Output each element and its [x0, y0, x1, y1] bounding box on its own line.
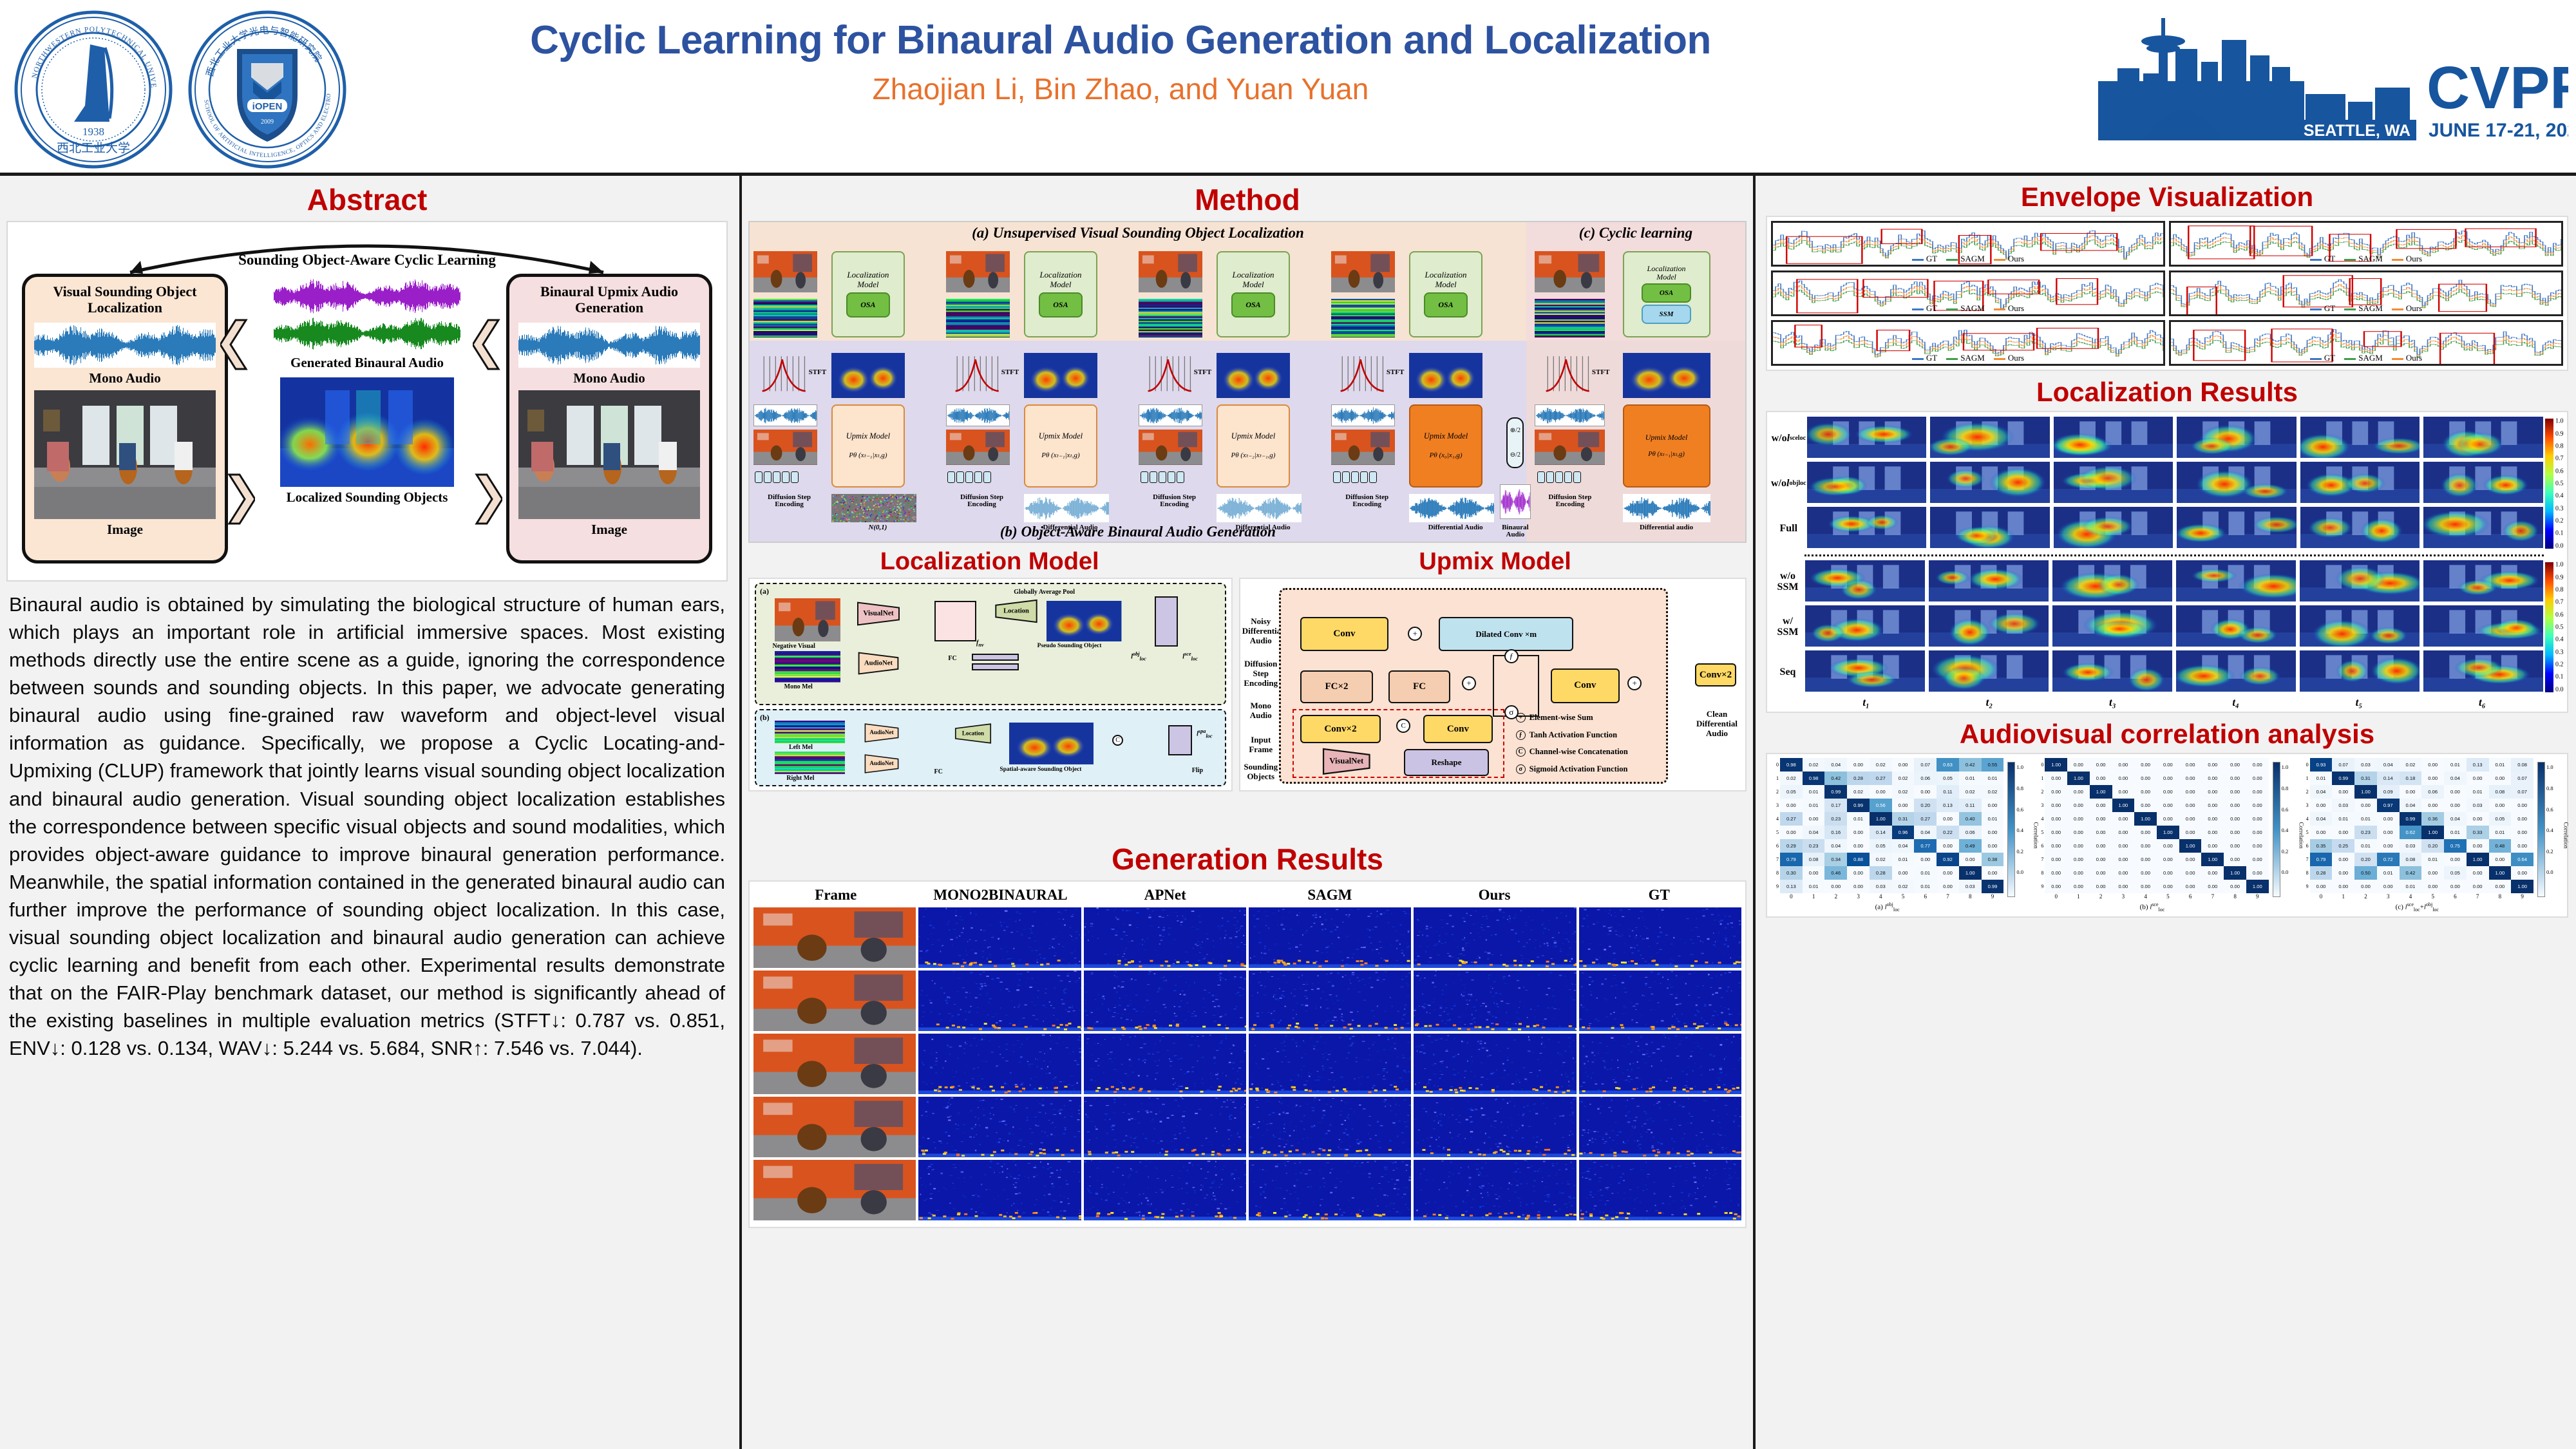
- heatmap-xlabel-2: 2: [2354, 893, 2377, 900]
- stft-plot-1: [952, 353, 1002, 394]
- heatmap-cell-9-8: 0.00: [2224, 880, 2246, 893]
- cbar-tick-0.0: 0.0: [2555, 542, 2564, 549]
- heatmap-cell-5-2: 0.00: [2090, 826, 2112, 839]
- heatmap-cell-4-9: 0.00: [2246, 812, 2269, 826]
- heatmap-cell-8-3: 0.00: [1847, 866, 1870, 880]
- heatmap-xlabel-3: 3: [2112, 893, 2135, 900]
- conv-block-1: Conv: [1300, 617, 1389, 652]
- localization-heatmap-r1c3: [2176, 461, 2297, 504]
- localization-row-2: [1806, 506, 2544, 549]
- conv-block-3: Conv: [1423, 715, 1493, 744]
- heatmap-cell-0-3: 0.00: [1847, 758, 1870, 772]
- heatmap-cell-8-8: 1.00: [2224, 866, 2246, 880]
- heatmap-xlabel-9: 9: [2511, 893, 2533, 900]
- iopen-logo: iOPEN 2009 西北工业大学光电与智能研究院 SCHOOL OF ARTI…: [187, 9, 348, 170]
- localization-row-1: [1806, 461, 2544, 504]
- heatmap-cell-1-6: 0.00: [2179, 772, 2202, 785]
- heatmap-cell-2-1: 0.00: [2332, 785, 2354, 799]
- output-conv2-block: Conv×2: [1695, 663, 1736, 687]
- stft-label-2: STFT: [1194, 369, 1212, 377]
- heatmap-cell-4-1: 0.00: [2067, 812, 2090, 826]
- legend-item-SAGM: SAGM: [2344, 353, 2383, 363]
- heatmap-cell-9-9: 1.00: [2246, 880, 2269, 893]
- svg-text:iOPEN: iOPEN: [252, 101, 283, 112]
- heatmap-xlabel-6: 6: [1914, 893, 1937, 900]
- heatmap-cell-6-7: 0.00: [2467, 839, 2489, 853]
- svg-text:JUNE 17-21, 2024: JUNE 17-21, 2024: [2429, 120, 2568, 141]
- heatmap-cell-0-3: 0.04: [2377, 758, 2400, 772]
- upmix-legend-0: +Element-wise Sum: [1516, 713, 1593, 723]
- legend-item-Ours: Ours: [1994, 303, 2024, 314]
- heatmap-cell-8-6: 0.01: [1914, 866, 1937, 880]
- heatmap-cell-0-1: 0.02: [1803, 758, 1825, 772]
- heatmap-cell-8-9: 0.00: [2246, 866, 2269, 880]
- table-row: [753, 1160, 1741, 1220]
- caption-c: (c) Cyclic learning: [1526, 225, 1745, 241]
- cbar-tick-0.3: 0.3: [2555, 505, 2564, 512]
- heatmap-xlabel-1: 1: [2332, 893, 2354, 900]
- cbar-tick-0.6: 0.6: [2555, 611, 2564, 618]
- heatmap-cell-2-8: 0.00: [2224, 785, 2246, 799]
- heatmap-cell-4-8: 0.00: [2224, 812, 2246, 826]
- cyclic-frame: [1535, 430, 1605, 465]
- heatmap-cell-3-3: 0.99: [1847, 799, 1870, 812]
- heatmap-cell-2-6: 0.00: [1914, 785, 1937, 799]
- heatmap-cell-6-0: 0.00: [2045, 839, 2067, 853]
- legend-item-GT: GT: [2310, 353, 2335, 363]
- legend-item-GT: GT: [1912, 353, 1937, 363]
- heatmap-cell-4-1: 0.01: [2332, 812, 2354, 826]
- spectrogram-MONO2BINAURAL-0: [918, 907, 1081, 968]
- heatmap-cell-5-5: 1.00: [2157, 826, 2179, 839]
- spectrogram-APNet-4: [1084, 1160, 1246, 1220]
- stage-output-caption-1: Differential Audio: [1012, 524, 1129, 532]
- cyclic-upmix-model: Upmix Model Pθ (xₜ₋₁|xₜ,g): [1623, 404, 1710, 488]
- heatmap-cell-0-7: 0.63: [1937, 758, 1959, 772]
- fc-bars-lower: [972, 663, 1019, 670]
- heatmap-cell-2-6: 0.00: [2444, 785, 2467, 799]
- heatmap-cell-7-2: 0.00: [2090, 853, 2112, 866]
- stft-plot-2: [1144, 353, 1195, 394]
- heatmap-cell-9-4: 0.01: [2400, 880, 2422, 893]
- heatmap-cell-7-9: 0.00: [2246, 853, 2269, 866]
- gen-col-header-1: MONO2BINAURAL: [918, 884, 1083, 907]
- heatmap-cell-3-6: 0.00: [2179, 799, 2202, 812]
- heatmap-cell-6-5: 0.20: [2421, 839, 2444, 853]
- heatmap-ylabel-7: 7: [1771, 853, 1780, 866]
- time-label-2: t₂: [1927, 695, 2050, 709]
- heatmap-cell-8-8: 1.00: [1959, 866, 1982, 880]
- left-scene-image: [34, 390, 216, 519]
- fc-bars-b: [1168, 725, 1191, 755]
- fc-bars-upper: [972, 654, 1019, 661]
- right-wave-caption: Mono Audio: [509, 370, 709, 386]
- heatmap-cell-6-6: 1.00: [2179, 839, 2202, 853]
- heatmap-cell-8-2: 0.50: [2354, 866, 2377, 880]
- stft-label-3: STFT: [1387, 369, 1405, 377]
- heatmap-cell-9-1: 0.00: [2332, 880, 2354, 893]
- sum-op-2: +: [1462, 676, 1476, 690]
- corr-cbar-tick-1.0: 1.0: [2016, 764, 2023, 770]
- localization-heatmap-r2c3: [2175, 650, 2297, 692]
- heatmap-cell-0-0: 1.00: [2045, 758, 2067, 772]
- visual-localization-box: Visual Sounding Object Localization Mono…: [22, 274, 228, 563]
- heatmap-cell-8-6: 0.00: [2179, 866, 2202, 880]
- chevron-left-lower: [473, 319, 502, 370]
- cyclic-localization-model: LocalizationModel OSA SSM: [1623, 251, 1710, 337]
- corr-cbar-tick-1.0: 1.0: [2546, 764, 2553, 770]
- heatmap-cell-3-7: 0.00: [2201, 799, 2224, 812]
- heatmap-cell-0-5: 0.00: [2157, 758, 2179, 772]
- heatmap-xlabel-9: 9: [2246, 893, 2269, 900]
- localization-model-block-2: Localization Model OSA: [1217, 251, 1291, 337]
- heatmap-xlabel-8: 8: [1959, 893, 1982, 900]
- panel-a-label: (a): [760, 587, 769, 596]
- heatmap-cell-3-4: 0.00: [2134, 799, 2157, 812]
- time-axis-labels: t₁t₂t₃t₄t₅t₆: [1804, 695, 2544, 709]
- spectrogram-GT-4: [1579, 1160, 1741, 1220]
- cbar-tick-0.3: 0.3: [2555, 649, 2564, 656]
- svg-text:Location: Location: [962, 730, 984, 736]
- heatmap-xlabel-5: 5: [2421, 893, 2444, 900]
- spectrogram-GT-3: [1579, 1097, 1741, 1157]
- heatmap-grid-0: 0.980.020.040.000.020.000.070.630.420.55…: [1780, 758, 2003, 893]
- spectrogram-0: [753, 299, 817, 337]
- heatmap-cell-4-6: 0.00: [2179, 812, 2202, 826]
- dse-label-1: Diffusion StepEncoding: [939, 494, 1025, 509]
- mono-audio-waveform-left: [34, 323, 216, 368]
- heatmap-cell-8-6: 0.05: [2444, 866, 2467, 880]
- heatmap-cell-8-7: 0.00: [2467, 866, 2489, 880]
- section-title-generation-results: Generation Results: [742, 835, 1753, 880]
- chevron-left-upper: [220, 319, 250, 370]
- heatmap-cell-2-1: 0.01: [1803, 785, 1825, 799]
- section-title-upmix-model: Upmix Model: [1237, 543, 1753, 578]
- upmix-model-block-2: Upmix Model Pθ (xₜ₋₂|xₜ₋₁,g): [1217, 404, 1291, 488]
- legend-item-SAGM: SAGM: [1946, 353, 1985, 363]
- time-label-3: t₃: [2051, 695, 2174, 709]
- heatmap-cell-5-7: 0.22: [1937, 826, 1959, 839]
- upmix-input-3: InputFrame: [1242, 735, 1280, 755]
- svg-text:1938: 1938: [82, 126, 104, 138]
- localization-model-block-1: Localization Model OSA: [1024, 251, 1098, 337]
- heatmap-cell-5-1: 0.00: [2332, 826, 2354, 839]
- heatmap-cell-9-2: 0.00: [1824, 880, 1847, 893]
- stft-label-0: STFT: [809, 369, 827, 377]
- heatmap-cell-8-2: 0.46: [1824, 866, 1847, 880]
- heatmap-cell-2-0: 0.04: [2310, 785, 2333, 799]
- upmix-model-block-1: Upmix Model Pθ (xₜ₋₁|xₜ,g): [1024, 404, 1098, 488]
- localization-heatmap-r1c3: [2175, 605, 2297, 647]
- heatmap-cell-6-2: 0.04: [1824, 839, 1847, 853]
- heatmap-cell-2-2: 0.99: [1824, 785, 1847, 799]
- spectrogram-1: [946, 299, 1010, 337]
- heatmap-cell-2-2: 1.00: [2090, 785, 2112, 799]
- heatmap-cell-9-5: 0.02: [1892, 880, 1915, 893]
- heatmap-cell-6-8: 0.49: [1959, 839, 1982, 853]
- concat-op-upmix: C: [1396, 719, 1410, 733]
- corr-colorbar-gradient-1: [2273, 762, 2280, 897]
- localization-heatmap-r2c4: [2300, 506, 2421, 549]
- legend-item-SAGM: SAGM: [2344, 254, 2383, 264]
- heatmap-cell-5-0: 0.00: [2310, 826, 2333, 839]
- sum-op-1: +: [1408, 627, 1422, 641]
- heatmap-cell-9-0: 0.00: [2310, 880, 2333, 893]
- localization-heatmap-r1c4: [2299, 605, 2420, 647]
- heatmap-xlabel-8: 8: [2224, 893, 2246, 900]
- frame-thumbnail-2: [753, 1034, 916, 1094]
- diffusion-step-encoding-1: [947, 471, 991, 483]
- cbar-tick-0.0: 0.0: [2555, 686, 2564, 693]
- heatmap-cell-3-5: 0.00: [1892, 799, 1915, 812]
- heatmap-cell-8-4: 0.42: [2400, 866, 2422, 880]
- section-title-audiovisual-correlation: Audiovisual correlation analysis: [1758, 713, 2576, 753]
- heatmap-cell-1-2: 0.42: [1824, 772, 1847, 785]
- heatmap-xlabel-8: 8: [2489, 893, 2512, 900]
- heatmap-cell-5-6: 0.04: [1914, 826, 1937, 839]
- localization-heatmap-r2c5: [2423, 506, 2544, 549]
- heatmap-cell-6-0: 0.35: [2310, 839, 2333, 853]
- heatmap-cell-7-0: 0.79: [1780, 853, 1803, 866]
- spectrogram-APNet-2: [1084, 1034, 1246, 1094]
- heatmap-cell-2-9: 0.00: [2246, 785, 2269, 799]
- heatmap-cell-7-6: 0.00: [2179, 853, 2202, 866]
- heatmap-cell-2-9: 0.02: [1982, 785, 2004, 799]
- heatmap-xlabel-7: 7: [2467, 893, 2489, 900]
- localization-heatmap-r0c5: [2423, 560, 2544, 602]
- localization-model-figure: (a) Negative Visual Mono Mel VisualNet A…: [748, 578, 1233, 835]
- heatmap-cell-5-4: 0.62: [2400, 826, 2422, 839]
- heatmap-cell-6-2: 0.00: [2090, 839, 2112, 853]
- heatmap-cell-9-7: 0.00: [2201, 880, 2224, 893]
- input-frame-0: [753, 251, 817, 292]
- fc2-block: FC×2: [1300, 670, 1374, 703]
- heatmap-ylabel-0: 0: [2301, 758, 2310, 772]
- heatmap-cell-4-3: 0.00: [2112, 812, 2135, 826]
- localization-heatmap-r0c1: [1928, 560, 2049, 602]
- frame-thumbnail-0: [753, 907, 916, 968]
- heatmap-cell-1-2: 0.00: [2090, 772, 2112, 785]
- heatmap-cell-5-6: 0.00: [2179, 826, 2202, 839]
- heatmap-cell-6-6: 0.77: [1914, 839, 1937, 853]
- conv2-block: Conv×2: [1300, 715, 1381, 744]
- localization-branch-a: (a) Negative Visual Mono Mel VisualNet A…: [755, 583, 1226, 705]
- heatmap-ylabel-9: 9: [1771, 880, 1780, 893]
- heatmap-grid-2: 0.930.070.030.040.020.000.010.130.010.08…: [2310, 758, 2533, 893]
- heatmap-cell-4-0: 0.00: [2045, 812, 2067, 826]
- heatmap-ylabel-5: 5: [2036, 826, 2045, 839]
- legend-item-Ours: Ours: [1994, 254, 2024, 264]
- corr-cbar-tick-0.4: 0.4: [2546, 827, 2553, 833]
- heatmap-cell-1-6: 0.04: [2444, 772, 2467, 785]
- left-wave-caption: Mono Audio: [25, 370, 225, 386]
- cbar-tick-0.8: 0.8: [2555, 443, 2564, 450]
- heatmap-xlabel-3: 3: [2377, 893, 2400, 900]
- heatmap-xlabel-1: 1: [1803, 893, 1825, 900]
- colorbar-gradient: [2545, 419, 2553, 549]
- legend-item-GT: GT: [1912, 254, 1937, 264]
- heatmap-cell-1-1: 1.00: [2067, 772, 2090, 785]
- heatmap-cell-6-1: 0.25: [2332, 839, 2354, 853]
- heatmap-ylabel-5: 5: [1771, 826, 1780, 839]
- localization-heatmap-r0c0: [1806, 416, 1927, 459]
- row-label-1: w/SSM: [1771, 605, 1804, 650]
- heatmap-cell-8-1: 0.00: [2067, 866, 2090, 880]
- legend-item-GT: GT: [2310, 303, 2335, 314]
- heatmap-cell-4-7: 0.00: [2201, 812, 2224, 826]
- localization-heatmap-2: [1217, 353, 1291, 397]
- heatmap-cell-3-5: 0.00: [2421, 799, 2444, 812]
- spectrogram-Ours-0: [1414, 907, 1576, 968]
- right-scene-image: [518, 390, 700, 519]
- heatmap-cell-9-8: 0.03: [1959, 880, 1982, 893]
- heatmap-cell-0-9: 0.00: [2246, 758, 2269, 772]
- correlation-heatmap-0: 0123456789 0.980.020.040.000.020.000.070…: [1771, 758, 2003, 913]
- heatmap-cell-3-2: 0.00: [2090, 799, 2112, 812]
- pseudo-sounding-object-label: Pseudo Sounding Object: [1037, 643, 1102, 649]
- gen-col-header-5: GT: [1577, 884, 1741, 907]
- localization-heatmap-r0c1: [1929, 416, 2050, 459]
- heatmap-cell-6-5: 0.00: [2157, 839, 2179, 853]
- heatmap-ylabel-4: 4: [2036, 812, 2045, 826]
- localization-model-block-0: Localization Model OSA: [831, 251, 905, 337]
- gen-col-header-3: SAGM: [1247, 884, 1412, 907]
- heatmap-cell-2-9: 0.07: [2511, 785, 2533, 799]
- heatmap-ylabel-6: 6: [2301, 839, 2310, 853]
- heatmap-cell-0-5: 0.00: [1892, 758, 1915, 772]
- heatmap-cell-9-7: 0.00: [2467, 880, 2489, 893]
- section-title-method: Method: [742, 176, 1753, 221]
- heatmap-cell-3-3: 0.97: [2377, 799, 2400, 812]
- corr-cbar-tick-1.0: 1.0: [2282, 764, 2289, 770]
- heatmap-cell-9-2: 0.00: [2090, 880, 2112, 893]
- corr-cbar-tick-0.8: 0.8: [2016, 785, 2023, 791]
- cbar-tick-0.9: 0.9: [2555, 430, 2564, 437]
- corr-cbar-tick-0.4: 0.4: [2016, 827, 2023, 833]
- heatmap-cell-9-6: 0.01: [1914, 880, 1937, 893]
- heatmap-cell-6-1: 0.23: [1803, 839, 1825, 853]
- corr-cbar-tick-0.2: 0.2: [2282, 848, 2289, 855]
- frame-input-3: [1331, 430, 1395, 465]
- time-label-4: t₄: [2174, 695, 2297, 709]
- spectrogram-APNet-1: [1084, 971, 1246, 1031]
- binaural-audio-output: [1500, 484, 1531, 520]
- heatmap-cell-7-3: 0.00: [2112, 853, 2135, 866]
- colorbar: 1.00.90.80.70.60.50.40.30.20.10.0: [2544, 416, 2563, 551]
- corr-cbar-tick-0.0: 0.0: [2016, 869, 2023, 875]
- heatmap-xlabel-6: 6: [2444, 893, 2467, 900]
- sum-op-3: +: [1627, 676, 1642, 690]
- upmix-input-0: NoisyDifferentialAudio: [1242, 617, 1280, 646]
- spectrogram-Ours-3: [1414, 1097, 1576, 1157]
- heatmap-cell-3-1: 0.01: [1803, 799, 1825, 812]
- legend-item-GT: GT: [1912, 303, 1937, 314]
- heatmap-cell-6-5: 0.04: [1892, 839, 1915, 853]
- heatmap-cell-1-5: 0.00: [2157, 772, 2179, 785]
- binaural-waveform-right-channel: [274, 315, 460, 352]
- spectrogram-MONO2BINAURAL-2: [918, 1034, 1081, 1094]
- chevron-right-lower-a: [225, 473, 255, 525]
- localization-heatmap-r0c0: [1804, 560, 1926, 602]
- heatmap-cell-1-0: 0.00: [2045, 772, 2067, 785]
- heatmap-cell-5-9: 0.00: [2511, 826, 2533, 839]
- heatmap-cell-2-0: 0.05: [1780, 785, 1803, 799]
- heatmap-cell-1-8: 0.00: [2489, 772, 2512, 785]
- right-image-caption: Image: [509, 522, 709, 538]
- section-title-localization-model: Localization Model: [742, 543, 1237, 578]
- gen-col-header-4: Ours: [1412, 884, 1577, 907]
- cyclic-dse-label: Diffusion StepEncoding: [1528, 494, 1611, 509]
- heatmap-cell-9-1: 0.01: [1803, 880, 1825, 893]
- cbar-tick-0.4: 0.4: [2555, 493, 2564, 500]
- mono-waveform-2: [1139, 404, 1202, 427]
- heatmap-cell-3-9: 0.00: [2246, 799, 2269, 812]
- cyclic-output-caption: Differential audio: [1614, 524, 1719, 532]
- cbar-tick-0.5: 0.5: [2555, 480, 2564, 488]
- corr-colorbar-title-2: Correlation: [2562, 822, 2569, 848]
- feature-fnv: fnv: [976, 639, 984, 648]
- svg-text:Location: Location: [1003, 608, 1029, 615]
- heatmap-cell-0-0: 0.98: [1780, 758, 1803, 772]
- binaural-waveform-left-channel: [274, 278, 460, 315]
- heatmap-xaxis-2: 0123456789: [2310, 893, 2533, 900]
- cbar-tick-0.7: 0.7: [2555, 599, 2564, 606]
- cvpr-logo: SEATTLE, WA CVPR JUNE 17-21, 2024: [2079, 12, 2568, 153]
- heatmap-ylabel-4: 4: [1771, 812, 1780, 826]
- heatmap-cell-3-5: 0.00: [2157, 799, 2179, 812]
- heatmap-cell-5-0: 0.00: [1780, 826, 1803, 839]
- heatmap-cell-0-8: 0.01: [2489, 758, 2512, 772]
- heatmap-cell-0-7: 0.13: [2467, 758, 2489, 772]
- spectrogram-GT-2: [1579, 1034, 1741, 1094]
- corr-cbar-tick-0.6: 0.6: [2546, 806, 2553, 813]
- heatmap-ylabel-3: 3: [1771, 799, 1780, 812]
- heatmap-cell-4-7: 0.00: [1937, 812, 1959, 826]
- poster-header: 1938 NORTHWESTERN POLYTECHNICAL UNIVERSI…: [0, 0, 2576, 176]
- section-title-abstract: Abstract: [0, 176, 734, 221]
- localization-heatmap-3: [1409, 353, 1483, 397]
- localization-heatmap-1: [1024, 353, 1098, 397]
- heatmap-cell-3-4: 0.56: [1870, 799, 1892, 812]
- localization-heatmap-r0c2: [2052, 560, 2173, 602]
- heatmap-xlabel-7: 7: [2201, 893, 2224, 900]
- mono-waveform-3: [1331, 404, 1395, 427]
- heatmap-cell-3-0: 0.00: [2045, 799, 2067, 812]
- reshape-block: Reshape: [1404, 749, 1489, 776]
- spectrogram-SAGM-1: [1249, 971, 1411, 1031]
- localization-heatmap-r1c4: [2300, 461, 2421, 504]
- localization-heatmap-r1c2: [2053, 461, 2174, 504]
- heatmap-cell-4-0: 0.04: [2310, 812, 2333, 826]
- heatmap-cell-1-8: 0.00: [2224, 772, 2246, 785]
- spectrogram-APNet-0: [1084, 907, 1246, 968]
- localization-heatmap-r2c1: [1929, 506, 2050, 549]
- heatmap-cell-2-8: 0.08: [2489, 785, 2512, 799]
- heatmap-cell-1-5: 0.00: [2421, 772, 2444, 785]
- cbar-tick-0.5: 0.5: [2555, 624, 2564, 631]
- gen-col-header-0: Frame: [753, 884, 918, 907]
- gen-col-header-2: APNet: [1083, 884, 1247, 907]
- method-column: Method (a) Unsupervised Visual Sounding …: [739, 176, 1756, 1449]
- heatmap-cell-6-7: 0.00: [2201, 839, 2224, 853]
- group-divider: [1804, 554, 2544, 556]
- heatmap-cell-5-5: 0.96: [1892, 826, 1915, 839]
- heatmap-cell-6-0: 0.29: [1780, 839, 1803, 853]
- heatmap-cell-4-7: 0.00: [2467, 812, 2489, 826]
- heatmap-cell-1-5: 0.02: [1892, 772, 1915, 785]
- heatmap-ylabel-5: 5: [2301, 826, 2310, 839]
- localization-row-1: [1804, 605, 2544, 647]
